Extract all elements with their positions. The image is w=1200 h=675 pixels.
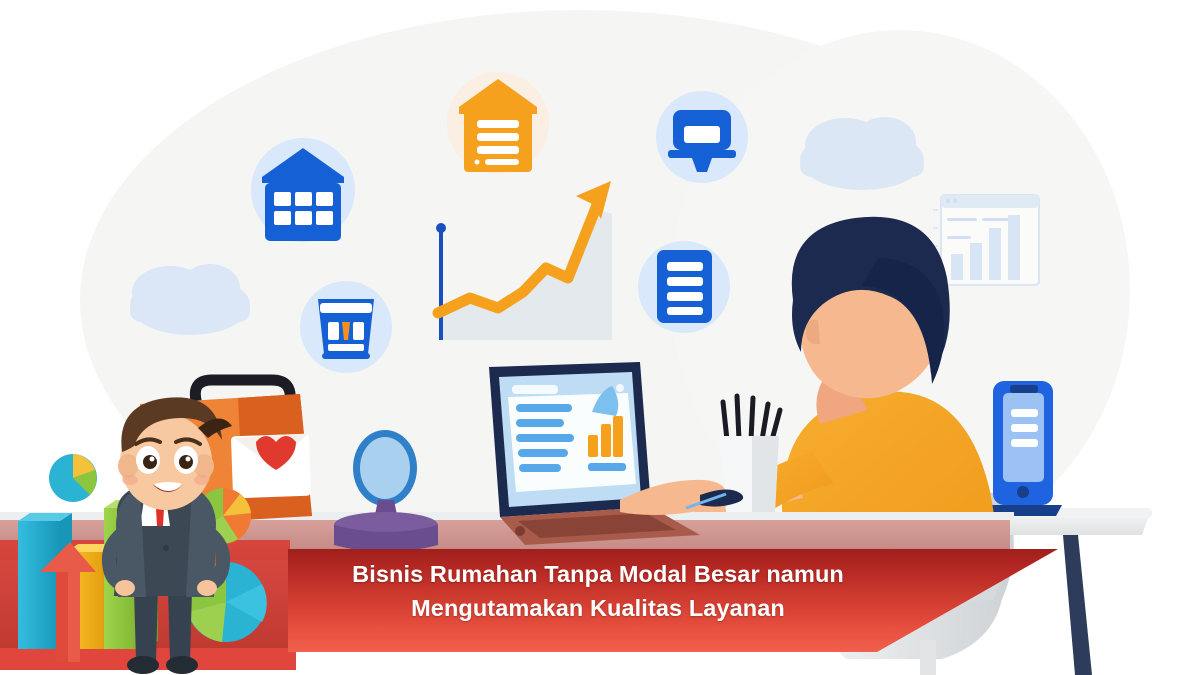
banner-shape bbox=[288, 549, 1058, 652]
ribbon-tail bbox=[0, 542, 300, 667]
headline-banner: Bisnis Rumahan Tanpa Modal Besar namun M… bbox=[288, 549, 1058, 652]
pie-chart-small bbox=[49, 454, 97, 502]
illustration-canvas: Bisnis Rumahan Tanpa Modal Besar namun M… bbox=[0, 0, 1200, 675]
magnifier-stand bbox=[334, 430, 438, 552]
